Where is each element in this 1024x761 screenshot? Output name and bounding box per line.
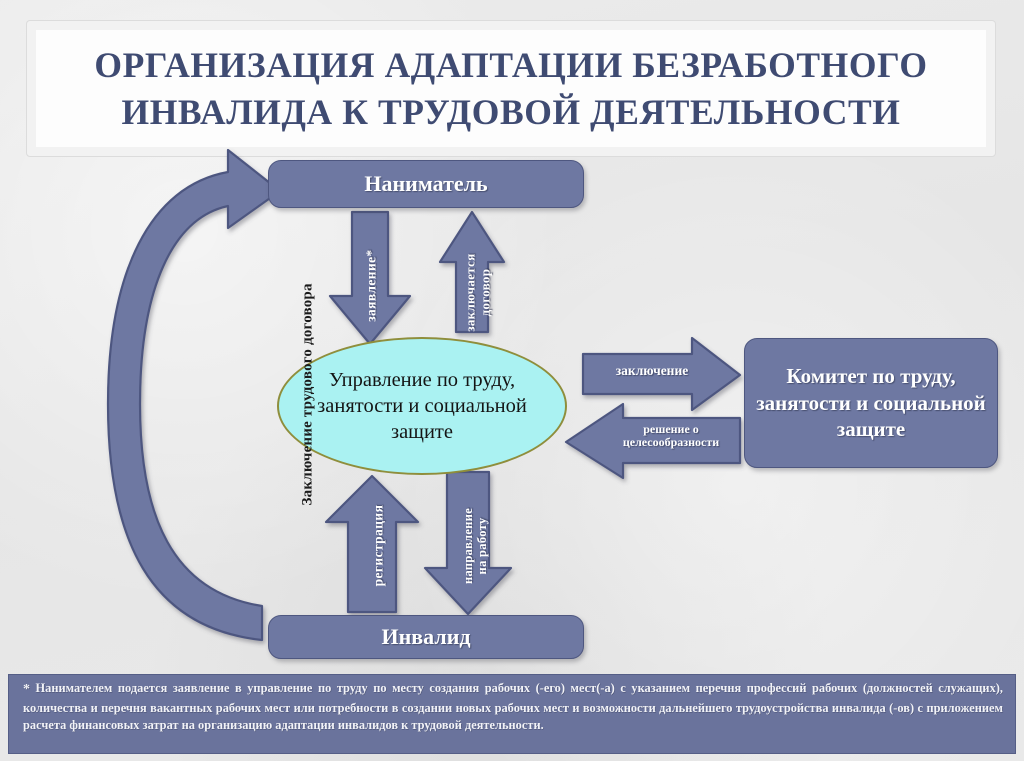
- slide-canvas: Организация адаптации безработного инвал…: [0, 0, 1024, 761]
- footnote-panel: * Нанимателем подается заявление в управ…: [8, 674, 1016, 754]
- arrow-invalid-to-employer: [108, 150, 280, 640]
- footnote-marker: *: [23, 682, 30, 697]
- arrow-department-to-employer: [440, 212, 504, 332]
- footnote-text: Нанимателем подается заявление в управле…: [23, 681, 1003, 732]
- arrow-invalid-to-department: [326, 476, 418, 612]
- arrow-department-to-committee: [583, 338, 740, 410]
- arrow-committee-to-department: [566, 404, 740, 478]
- node-employer[interactable]: Наниматель: [268, 160, 584, 208]
- node-department[interactable]: Управление по труду, занятости и социаль…: [277, 337, 567, 475]
- arrow-employer-to-department: [330, 212, 410, 344]
- arrow-department-to-invalid: [425, 472, 511, 614]
- node-committee[interactable]: Комитет по труду, занятости и социальной…: [744, 338, 998, 468]
- node-invalid[interactable]: Инвалид: [268, 615, 584, 659]
